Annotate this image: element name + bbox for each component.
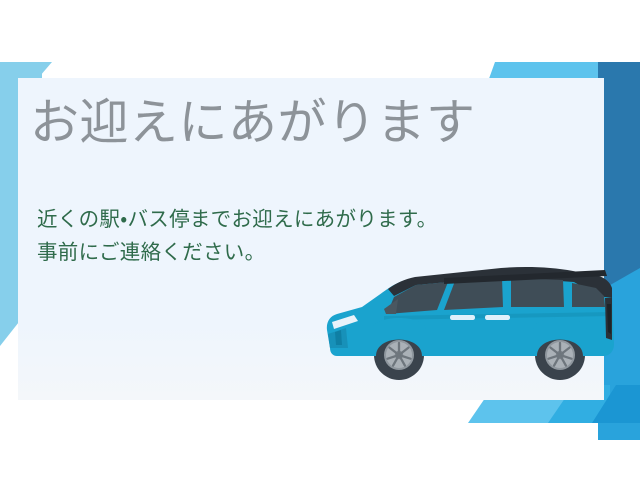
car-side-window-2 bbox=[511, 278, 564, 307]
minivan-illustration bbox=[324, 252, 616, 384]
page-title: お迎えにあがります bbox=[30, 96, 476, 151]
top-left-tab-slant-shape bbox=[40, 62, 52, 76]
body-text-line-1: 近くの駅・バス停までお迎えにあがります。 bbox=[37, 203, 437, 236]
car-door-handle-2 bbox=[485, 315, 510, 320]
top-right-dark-bar-shape bbox=[598, 62, 640, 87]
promo-banner: お迎えにあがります 近くの駅・バス停までお迎えにあがります。 事前にご連絡くださ… bbox=[0, 0, 640, 480]
car-door-handle-1 bbox=[450, 315, 475, 320]
car-front-grille-slot bbox=[335, 330, 342, 345]
